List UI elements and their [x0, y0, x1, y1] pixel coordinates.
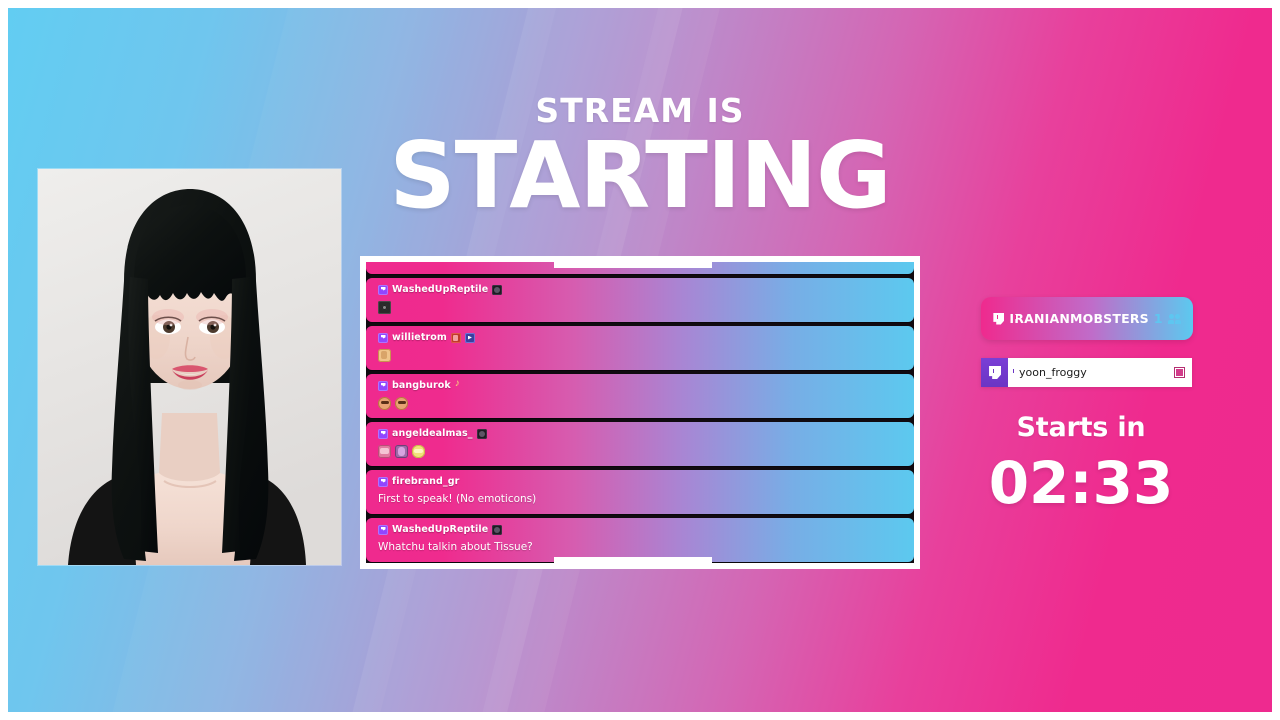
- face-emote-icon: [378, 397, 391, 410]
- chat-username: firebrand_gr: [392, 476, 459, 487]
- chat-body-line: First to speak! (No emoticons): [378, 491, 536, 507]
- viewer-count: 1: [1154, 311, 1163, 326]
- color-swatch-icon[interactable]: [1175, 368, 1184, 377]
- viewers-icon: [1168, 313, 1182, 325]
- streamer-portrait-image: [38, 169, 341, 565]
- cat-emote-icon: [378, 445, 391, 458]
- spark-emote-icon: [395, 445, 408, 458]
- chat-row[interactable]: WashedUpReptile: [366, 278, 914, 322]
- chat-username: angeldealmas_: [392, 428, 473, 439]
- chat-row[interactable]: angeldealmas_: [366, 422, 914, 466]
- mod-badge-icon: [492, 525, 502, 535]
- note-badge-icon: [455, 381, 465, 391]
- chat-body-line: [378, 299, 395, 315]
- hand-emote-icon: [378, 349, 391, 362]
- face-emote-icon: [395, 397, 408, 410]
- prefix-badge-icon: [378, 477, 388, 487]
- chat-name-line: WashedUpReptile: [378, 523, 502, 536]
- chat-row[interactable]: willietrom: [366, 326, 914, 370]
- twitch-icon: [992, 313, 1004, 325]
- prefix-badge-icon: [378, 429, 388, 439]
- mod-badge-icon: [477, 429, 487, 439]
- chat-row[interactable]: bangburok: [366, 374, 914, 418]
- stream-starting-overlay: STREAM IS STARTING: [0, 0, 1280, 720]
- chat-bottom-marker: [554, 557, 712, 569]
- chat-username: WashedUpReptile: [392, 284, 488, 295]
- twitch-icon: [988, 366, 1001, 379]
- chat-body-line: Whatchu talkin about Tissue?: [378, 539, 533, 555]
- twitch-handle-bar[interactable]: yoon_froggy: [981, 358, 1192, 387]
- chat-username: willietrom: [392, 332, 447, 343]
- pill-emote-icon: [412, 445, 425, 458]
- chat-message-text: First to speak! (No emoticons): [378, 493, 536, 505]
- chat-name-line: angeldealmas_: [378, 427, 487, 440]
- camera-emote-icon: [378, 301, 391, 314]
- twitch-handle-field[interactable]: yoon_froggy: [1008, 358, 1192, 387]
- chat-name-line: bangburok: [378, 379, 465, 392]
- channel-name: IRANIANMOBSTERS: [1009, 311, 1149, 326]
- chat-message-list[interactable]: WashedUpReptile willietrom: [366, 262, 914, 563]
- prefix-badge-icon: [378, 285, 388, 295]
- chat-message-text: Whatchu talkin about Tissue?: [378, 541, 533, 553]
- countdown-label: Starts in: [981, 412, 1181, 443]
- chat-body-line: [378, 395, 412, 411]
- prime-badge-icon: [465, 333, 475, 343]
- twitch-handle-text: yoon_froggy: [1019, 366, 1087, 379]
- viewer-count-badge[interactable]: IRANIANMOBSTERS 1: [981, 297, 1193, 340]
- chat-row[interactable]: firebrand_gr First to speak! (No emotico…: [366, 470, 914, 514]
- chat-body-line: [378, 347, 395, 363]
- prefix-badge-icon: [378, 381, 388, 391]
- streamer-portrait-card: [38, 169, 341, 565]
- chat-body-line: [378, 443, 429, 459]
- chat-row[interactable]: WashedUpReptile Whatchu talkin about Tis…: [366, 518, 914, 562]
- chat-scroll-container[interactable]: WashedUpReptile willietrom: [366, 262, 914, 563]
- sub-badge-icon: [451, 333, 461, 343]
- chat-window[interactable]: WashedUpReptile willietrom: [360, 256, 920, 569]
- mod-badge-icon: [492, 285, 502, 295]
- chat-username: bangburok: [392, 380, 451, 391]
- countdown-timer: 02:33: [981, 452, 1181, 514]
- chat-top-marker: [554, 256, 712, 268]
- chat-name-line: WashedUpReptile: [378, 283, 502, 296]
- twitch-icon-tile: [981, 358, 1008, 387]
- chat-name-line: firebrand_gr: [378, 475, 459, 488]
- prefix-badge-icon: [378, 333, 388, 343]
- chat-username: WashedUpReptile: [392, 524, 488, 535]
- prefix-badge-icon: [378, 525, 388, 535]
- chat-name-line: willietrom: [378, 331, 475, 344]
